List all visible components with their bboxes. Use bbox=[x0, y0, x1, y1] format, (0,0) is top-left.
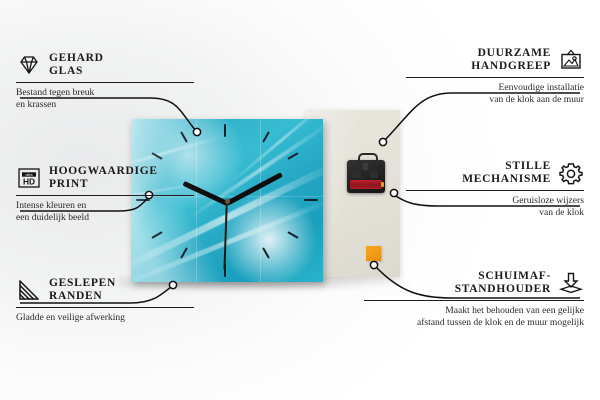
feature-divider bbox=[16, 195, 194, 196]
gear-icon bbox=[558, 161, 584, 185]
foam-spacer-icon bbox=[558, 271, 584, 295]
feature-title-row: STILLE MECHANISME bbox=[406, 160, 584, 186]
feature-description: Intense kleuren en een duidelijk beeld bbox=[16, 200, 194, 223]
mechanism-pad-right bbox=[370, 171, 378, 178]
feature-title: DUURZAME HANDGREEP bbox=[471, 47, 551, 73]
feature-stille-mechanisme: STILLE MECHANISME Geruisloze wijzers van… bbox=[406, 160, 584, 218]
feature-geslepen-randen: GESLEPEN RANDEN Gladde en veilige afwerk… bbox=[16, 277, 194, 324]
feature-title: GESLEPEN RANDEN bbox=[49, 277, 116, 303]
feature-title-row: SCHUIMAF- STANDHOUDER bbox=[364, 270, 584, 296]
feature-description: Gladde en veilige afwerking bbox=[16, 312, 194, 324]
feature-divider bbox=[16, 307, 194, 308]
feature-title: GEHARD GLAS bbox=[49, 52, 104, 78]
infographic-canvas: GEHARD GLAS Bestand tegen breuk en krass… bbox=[0, 0, 600, 400]
feature-divider bbox=[364, 300, 584, 301]
beveled-edge-icon bbox=[16, 278, 42, 302]
battery bbox=[350, 180, 382, 189]
foam-spacer-pad bbox=[366, 246, 381, 261]
feature-title: STILLE MECHANISME bbox=[462, 160, 551, 186]
feature-divider bbox=[16, 82, 194, 83]
feature-hoogwaardige-print: ultra HD HOOGWAARDIGE PRINT Intense kleu… bbox=[16, 165, 194, 223]
feature-description: Eenvoudige installatie van de klok aan d… bbox=[406, 82, 584, 105]
clock-mechanism bbox=[347, 160, 385, 193]
feature-title-row: ultra HD HOOGWAARDIGE PRINT bbox=[16, 165, 194, 191]
feature-title: SCHUIMAF- STANDHOUDER bbox=[455, 270, 551, 296]
feature-divider bbox=[406, 190, 584, 191]
feature-title-row: DUURZAME HANDGREEP bbox=[406, 47, 584, 73]
feature-gehard-glas: GEHARD GLAS Bestand tegen breuk en krass… bbox=[16, 52, 194, 110]
feature-description: Bestand tegen breuk en krassen bbox=[16, 87, 194, 110]
feature-title: HOOGWAARDIGE PRINT bbox=[49, 165, 158, 191]
mechanism-pad-left bbox=[352, 171, 361, 178]
feature-schuimaf-standhouder: SCHUIMAF- STANDHOUDER Maakt het behouden… bbox=[364, 270, 584, 328]
ultra-hd-icon: ultra HD bbox=[16, 166, 42, 190]
hanging-hook-icon bbox=[358, 153, 378, 163]
svg-text:HD: HD bbox=[23, 177, 35, 187]
mechanism-shaft bbox=[363, 163, 368, 170]
diamond-icon bbox=[16, 53, 42, 77]
picture-frame-icon bbox=[558, 48, 584, 72]
feature-title-row: GESLEPEN RANDEN bbox=[16, 277, 194, 303]
feature-description: Maakt het behouden van een gelijke afsta… bbox=[364, 305, 584, 328]
feature-title-row: GEHARD GLAS bbox=[16, 52, 194, 78]
feature-duurzame-handgreep: DUURZAME HANDGREEP Eenvoudige installati… bbox=[406, 47, 584, 105]
feature-divider bbox=[406, 77, 584, 78]
feature-description: Geruisloze wijzers van de klok bbox=[406, 195, 584, 218]
